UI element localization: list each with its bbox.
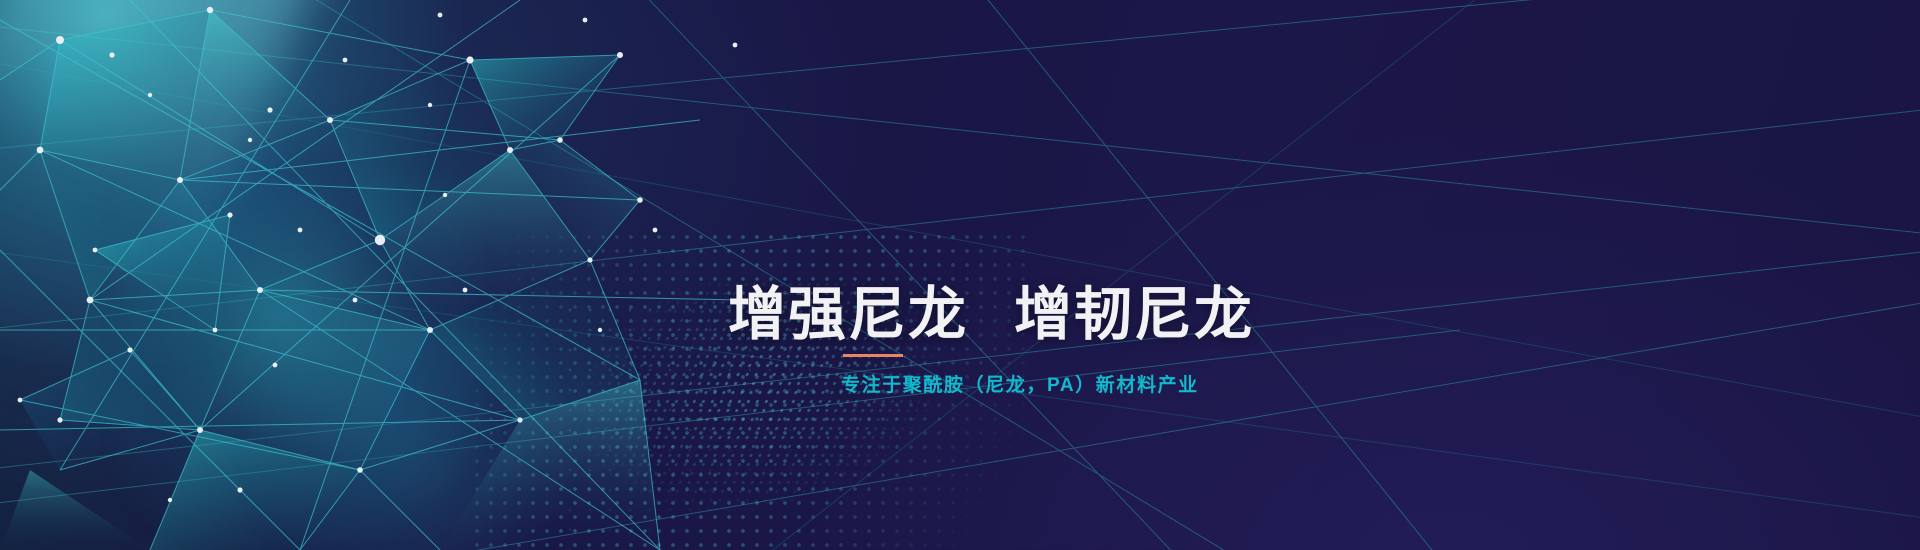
banner-content: 增强尼龙增韧尼龙 阻燃尼龙耐磨尼龙 专注于聚酰胺（尼龙，PA）新材料产业	[0, 0, 1920, 550]
headline-line1-part2: 增韧尼龙	[1014, 282, 1254, 347]
tagline: 专注于聚酰胺（尼龙，PA）新材料产业	[841, 370, 1461, 397]
hero-banner: 增强尼龙增韧尼龙 阻燃尼龙耐磨尼龙 专注于聚酰胺（尼龙，PA）新材料产业	[0, 0, 1920, 550]
tagline-divider-rule	[843, 354, 903, 357]
headline-line1-part1: 增强尼龙	[728, 282, 968, 347]
headline-line-1: 增强尼龙增韧尼龙	[728, 270, 1628, 360]
headline-line-2: 阻燃尼龙耐磨尼龙	[728, 540, 1628, 550]
headline: 增强尼龙增韧尼龙 阻燃尼龙耐磨尼龙	[728, 90, 1628, 550]
